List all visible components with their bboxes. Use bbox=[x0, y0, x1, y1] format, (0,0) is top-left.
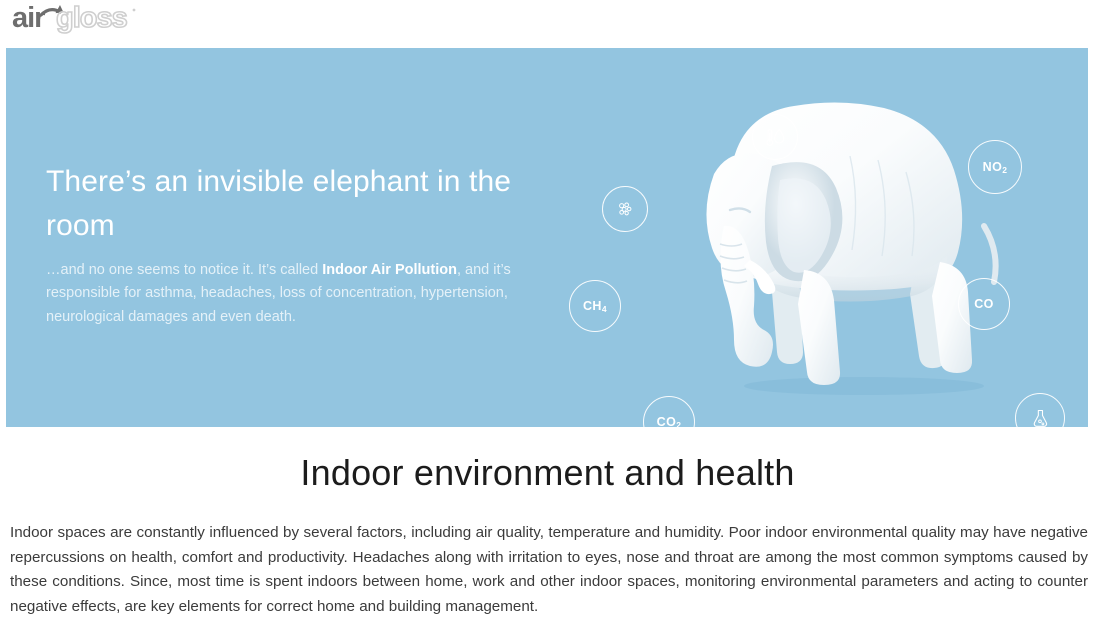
hero-subtitle-lead: …and no one seems to notice it. It’s cal… bbox=[46, 262, 322, 278]
badge-no2-label: NO2 bbox=[983, 161, 1008, 174]
badge-particulate-matter[interactable] bbox=[602, 186, 648, 232]
hero-subtitle: …and no one seems to notice it. It’s cal… bbox=[46, 259, 558, 329]
elephant-illustration bbox=[654, 48, 1074, 427]
badge-co2-label: CO2 bbox=[657, 416, 682, 427]
airgloss-logo-icon: air gloss bbox=[12, 1, 140, 35]
badge-ch4[interactable]: CH4 bbox=[569, 280, 621, 332]
badge-ch4-label: CH4 bbox=[583, 300, 607, 313]
hero-title: There’s an invisible elephant in the roo… bbox=[46, 160, 566, 247]
hero-copy: There’s an invisible elephant in the roo… bbox=[46, 160, 566, 329]
logo-bar: air gloss bbox=[0, 0, 1095, 44]
badge-temperature-humidity[interactable] bbox=[752, 114, 798, 160]
page-title: Indoor environment and health bbox=[0, 452, 1095, 494]
badge-co[interactable]: CO bbox=[958, 278, 1010, 330]
section-body-text: Indoor spaces are constantly influenced … bbox=[10, 521, 1088, 620]
hero-subtitle-highlight: Indoor Air Pollution bbox=[322, 262, 457, 278]
thermometer-droplet-icon bbox=[764, 126, 786, 148]
badge-voc[interactable] bbox=[1015, 393, 1065, 427]
badge-no2[interactable]: NO2 bbox=[968, 140, 1022, 194]
voc-flask-icon bbox=[1030, 408, 1050, 427]
badge-co-label: CO bbox=[974, 298, 994, 311]
svg-text:air: air bbox=[12, 2, 45, 34]
elephant-figurine-image bbox=[654, 48, 1074, 427]
particles-icon bbox=[615, 199, 635, 219]
brand-logo[interactable]: air gloss bbox=[12, 1, 140, 35]
svg-text:gloss: gloss bbox=[56, 2, 127, 34]
hero-banner: There’s an invisible elephant in the roo… bbox=[6, 48, 1088, 427]
badge-co2[interactable]: CO2 bbox=[643, 396, 695, 427]
